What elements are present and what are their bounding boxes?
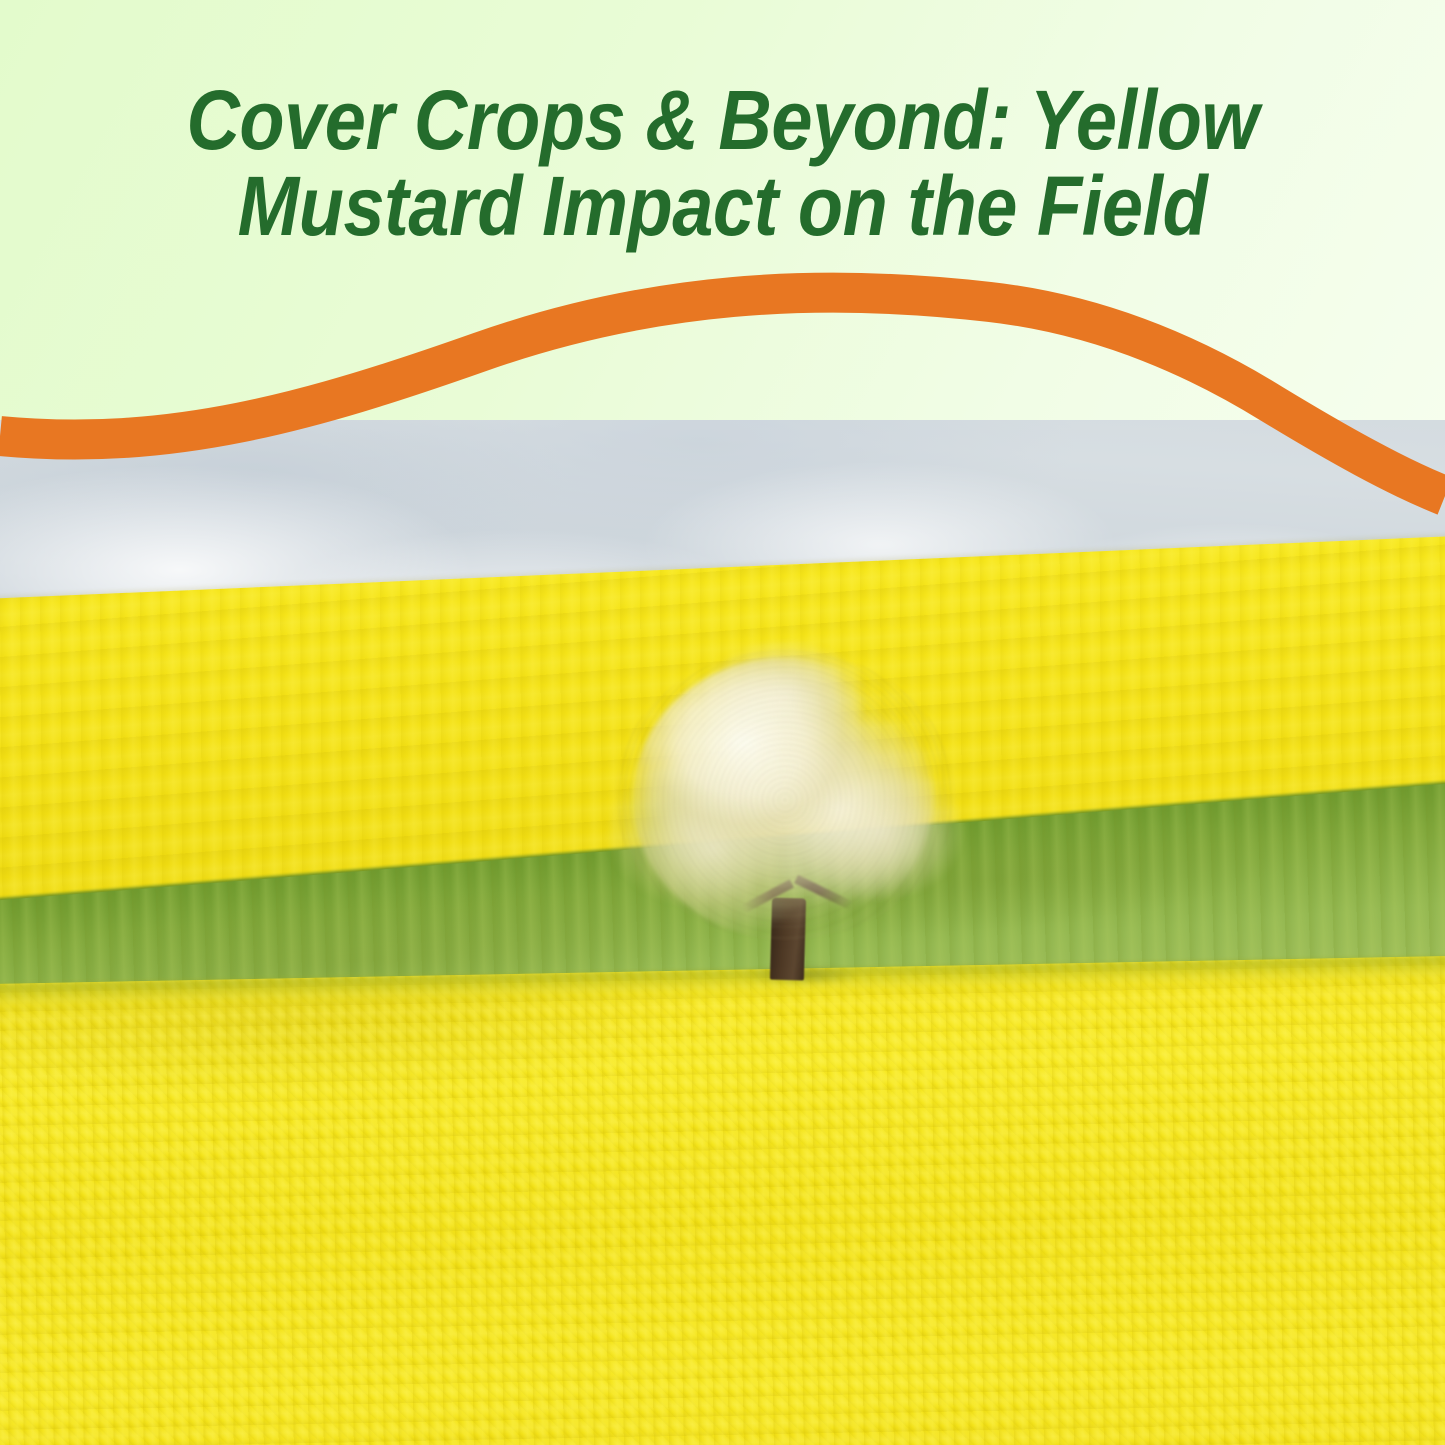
- yellow-field-foreground: [0, 955, 1445, 1445]
- blossoming-tree: [605, 640, 965, 985]
- title-line-2: Mustard Impact on the Field: [148, 164, 1296, 250]
- hero-photo-scene: [0, 420, 1445, 1445]
- hero-photo: [0, 420, 1445, 1445]
- page-title: Cover Crops & Beyond: Yellow Mustard Imp…: [0, 78, 1445, 249]
- tree-twigs: [615, 650, 955, 940]
- poster-canvas: Cover Crops & Beyond: Yellow Mustard Imp…: [0, 0, 1445, 1445]
- title-line-1: Cover Crops & Beyond: Yellow: [148, 78, 1296, 164]
